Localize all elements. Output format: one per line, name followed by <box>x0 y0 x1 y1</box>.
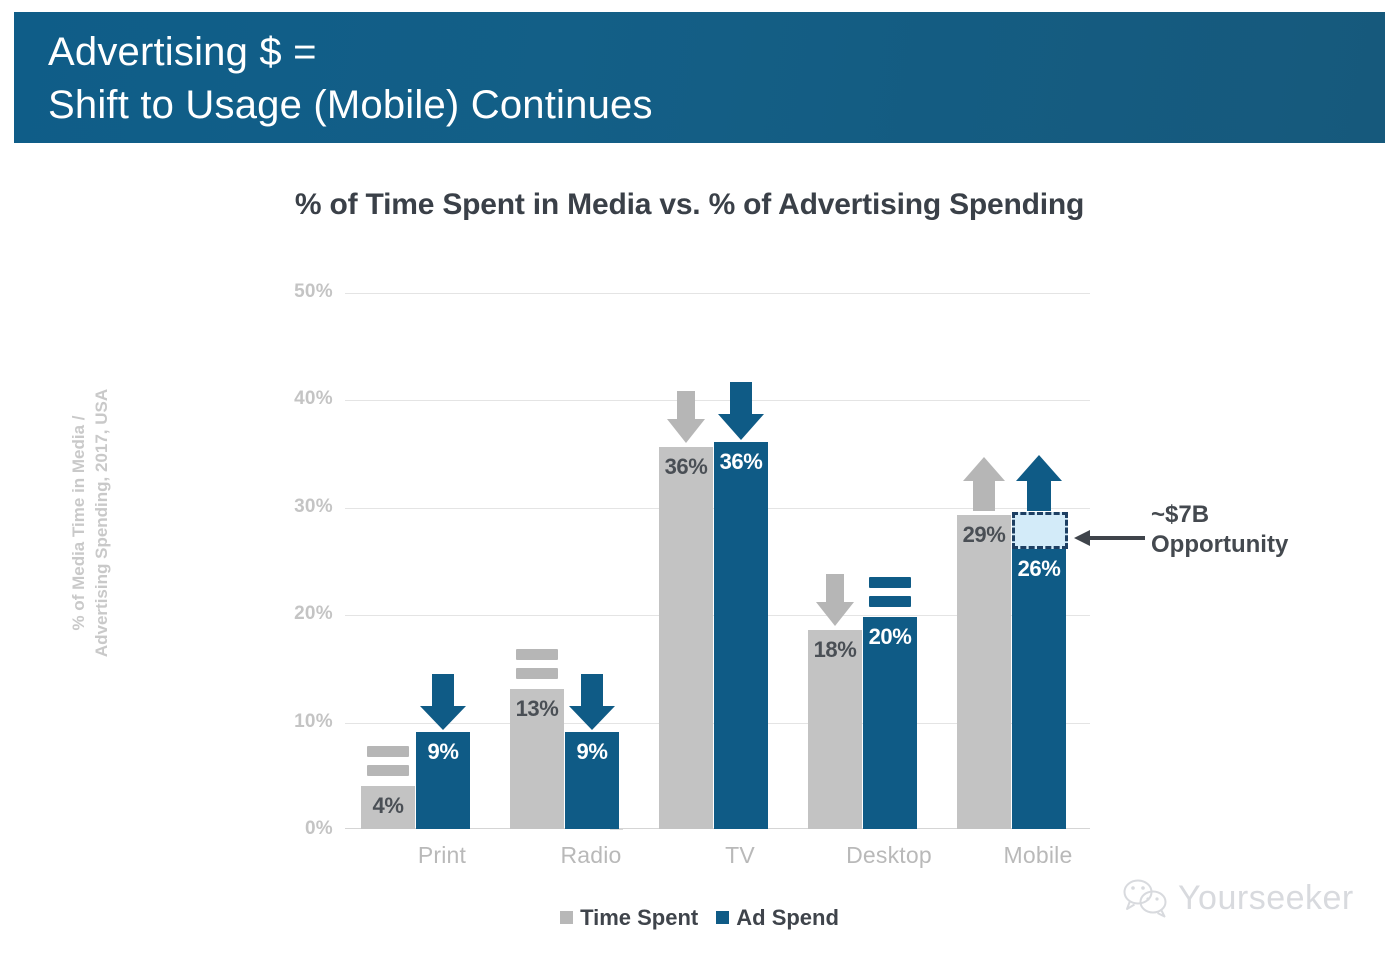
opportunity-label: ~$7B Opportunity <box>1151 500 1399 560</box>
slide-header-bar: Advertising $ = Shift to Usage (Mobile) … <box>14 12 1385 143</box>
watermark-text: Yourseeker <box>1178 879 1354 918</box>
arrow-down-icon <box>565 670 619 732</box>
bar-value-ad-spend-desktop: 20% <box>863 624 917 650</box>
legend-item-ad-spend[interactable]: Ad Spend <box>716 905 839 931</box>
bar-value-time-spent-print: 4% <box>361 793 415 819</box>
y-tick-label-0: 0% <box>273 818 333 840</box>
equal-icon-bar-bottom <box>516 668 558 679</box>
bar-value-ad-spend-mobile: 26% <box>1012 556 1066 582</box>
equal-icon-bar-top <box>367 746 409 757</box>
chart-title-text: % of Time Spent in Media vs. % of Advert… <box>295 188 1084 222</box>
bar-value-time-spent-desktop: 18% <box>808 637 862 663</box>
bar-ad-spend-print[interactable]: 9% <box>416 732 470 829</box>
arrow-up-icon <box>1012 453 1066 515</box>
arrow-down-icon <box>808 568 862 630</box>
opportunity-box[interactable] <box>1012 512 1068 549</box>
bar-group-tv: 36% 36% TV <box>659 293 768 829</box>
bar-value-ad-spend-tv: 36% <box>714 449 768 475</box>
slide-canvas: Advertising $ = Shift to Usage (Mobile) … <box>0 0 1399 960</box>
legend-swatch-time-spent <box>560 911 573 924</box>
equal-icon-bar-bottom <box>869 596 911 607</box>
category-label-print: Print <box>372 842 512 869</box>
arrow-down-icon <box>659 385 713 447</box>
indicator-down-ad-spend-radio <box>565 670 619 732</box>
equal-icon-bar-bottom <box>367 765 409 776</box>
y-axis-ticks: 50% 40% 30% 20% 10% 0% <box>272 293 334 829</box>
indicator-equal-ad-spend-desktop <box>863 555 917 617</box>
category-label-desktop: Desktop <box>819 842 959 869</box>
y-tick-label-20: 20% <box>273 603 333 625</box>
bar-time-spent-mobile[interactable]: 29% <box>957 515 1011 829</box>
indicator-down-ad-spend-print <box>416 670 470 732</box>
bar-ad-spend-radio[interactable]: 9% <box>565 732 619 829</box>
bar-group-mobile: 29% 26% Mobile <box>957 293 1066 829</box>
equal-icon-bar-top <box>869 577 911 588</box>
indicator-equal-time-spent-radio <box>510 627 564 689</box>
y-tick-label-50: 50% <box>273 281 333 303</box>
bar-group-print: 4% 9% Print <box>361 293 470 829</box>
y-tick-label-30: 30% <box>273 496 333 518</box>
bar-ad-spend-mobile[interactable]: 26% <box>1012 549 1066 829</box>
bar-time-spent-desktop[interactable]: 18% <box>808 630 862 829</box>
wechat-icon <box>1122 878 1168 918</box>
y-axis-title: % of Media Time in Media / Advertising S… <box>67 313 113 733</box>
legend-item-time-spent[interactable]: Time Spent <box>560 905 698 931</box>
chart-title: % of Time Spent in Media vs. % of Advert… <box>0 188 1399 222</box>
bar-value-time-spent-tv: 36% <box>659 454 713 480</box>
indicator-up-time-spent-mobile <box>957 453 1011 515</box>
y-tick-label-10: 10% <box>273 711 333 733</box>
bar-ad-spend-desktop[interactable]: 20% <box>863 617 917 829</box>
indicator-down-time-spent-desktop <box>808 568 862 630</box>
indicator-equal-time-spent-print <box>361 724 415 786</box>
indicator-up-ad-spend-mobile <box>1012 453 1066 515</box>
arrow-up-icon <box>957 453 1011 515</box>
category-label-radio: Radio <box>521 842 661 869</box>
bar-ad-spend-tv[interactable]: 36% <box>714 442 768 829</box>
legend-swatch-ad-spend <box>716 911 729 924</box>
bar-time-spent-radio[interactable]: 13% <box>510 689 564 829</box>
bar-time-spent-tv[interactable]: 36% <box>659 447 713 829</box>
bar-value-time-spent-radio: 13% <box>510 696 564 722</box>
arrow-down-icon <box>416 670 470 732</box>
bar-value-ad-spend-print: 9% <box>416 739 470 765</box>
indicator-down-ad-spend-tv <box>714 380 768 442</box>
indicator-down-time-spent-tv <box>659 385 713 447</box>
category-label-tv: TV <box>670 842 810 869</box>
slide-title: Advertising $ = Shift to Usage (Mobile) … <box>48 26 653 132</box>
plot-area: 4% 9% Print 13% <box>345 293 1090 829</box>
opportunity-callout-arrow-icon <box>1072 526 1147 550</box>
watermark: Yourseeker <box>1122 878 1354 918</box>
y-tick-dash-0 <box>610 829 623 830</box>
equal-icon-bar-top <box>516 649 558 660</box>
bar-group-desktop: 18% 20% Desktop <box>808 293 917 829</box>
legend-label-time-spent: Time Spent <box>580 905 698 930</box>
bar-value-time-spent-mobile: 29% <box>957 522 1011 548</box>
legend-label-ad-spend: Ad Spend <box>736 905 839 930</box>
y-tick-label-40: 40% <box>273 388 333 410</box>
bar-group-radio: 13% 9% Radio <box>510 293 619 829</box>
category-label-mobile: Mobile <box>968 842 1108 869</box>
bar-value-ad-spend-radio: 9% <box>565 739 619 765</box>
bar-time-spent-print[interactable]: 4% <box>361 786 415 829</box>
arrow-down-icon <box>714 380 768 442</box>
